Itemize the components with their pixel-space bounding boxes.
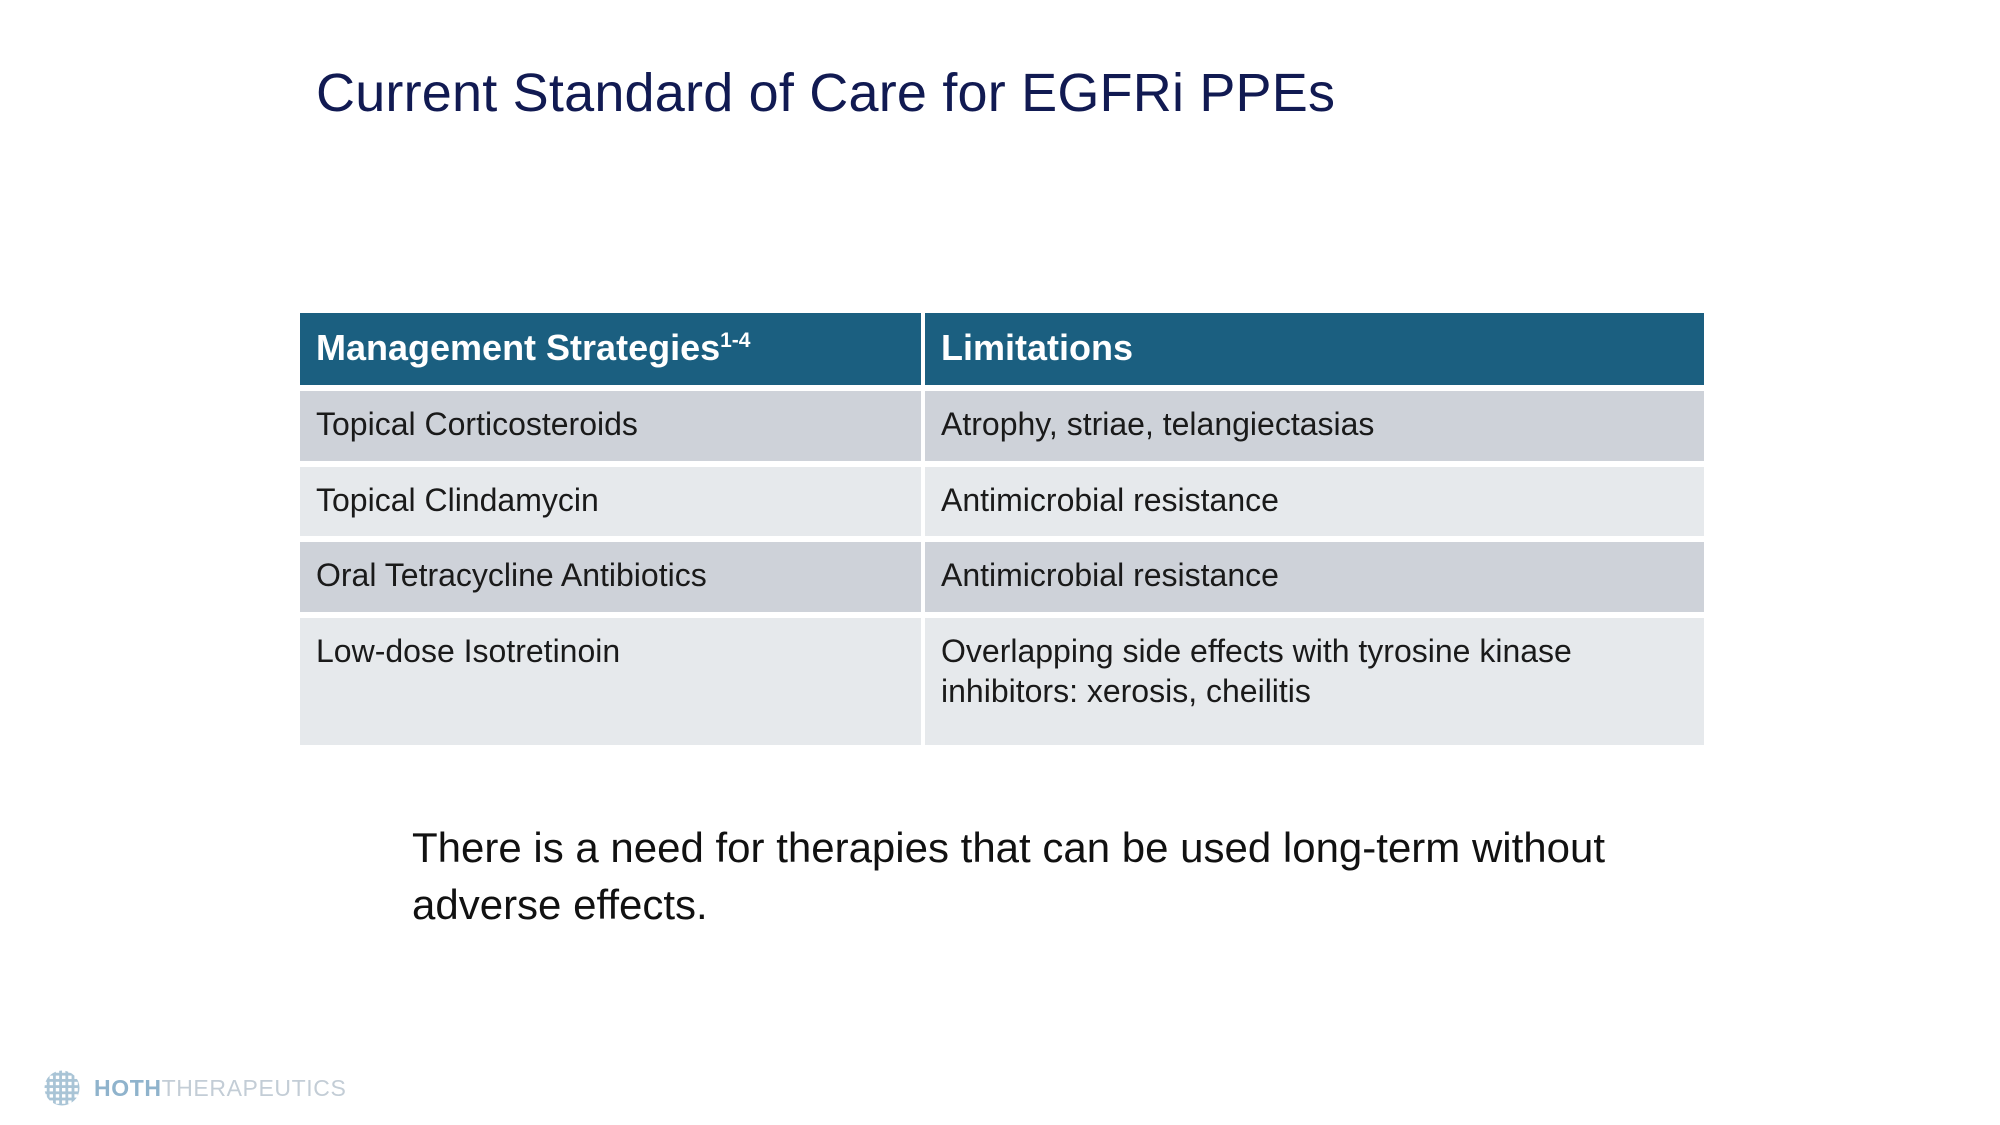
standard-of-care-table: Management Strategies1-4 Limitations Top… [300,313,1704,745]
page-title: Current Standard of Care for EGFRi PPEs [316,62,1335,124]
cell-strategy: Topical Clindamycin [300,461,925,537]
column-header-limitations: Limitations [925,313,1704,385]
logo-wordmark: HOTHTHERAPEUTICS [94,1075,346,1102]
cell-strategy: Oral Tetracycline Antibiotics [300,536,925,612]
table-row: Topical Corticosteroids Atrophy, striae,… [300,385,1704,461]
cell-limitation: Atrophy, striae, telangiectasias [925,385,1704,461]
column-header-limitations-label: Limitations [941,327,1133,368]
table-row: Oral Tetracycline Antibiotics Antimicrob… [300,536,1704,612]
cell-limitation: Antimicrobial resistance [925,536,1704,612]
logo-brand-secondary: THERAPEUTICS [162,1075,347,1101]
dotted-circle-icon [42,1068,82,1108]
logo-brand-primary: HOTH [94,1075,162,1101]
column-header-management-strategies-label: Management Strategies [316,327,720,368]
cell-limitation: Antimicrobial resistance [925,461,1704,537]
table-row: Low-dose Isotretinoin Overlapping side e… [300,612,1704,745]
cell-strategy: Topical Corticosteroids [300,385,925,461]
table-row: Topical Clindamycin Antimicrobial resist… [300,461,1704,537]
conclusion-text: There is a need for therapies that can b… [412,820,1662,933]
footer-logo: HOTHTHERAPEUTICS [42,1068,346,1108]
cell-strategy: Low-dose Isotretinoin [300,612,925,745]
column-header-management-strategies-superscript: 1-4 [720,329,750,352]
cell-limitation: Overlapping side effects with tyrosine k… [925,612,1704,745]
table-header-row: Management Strategies1-4 Limitations [300,313,1704,385]
column-header-management-strategies: Management Strategies1-4 [300,313,925,385]
